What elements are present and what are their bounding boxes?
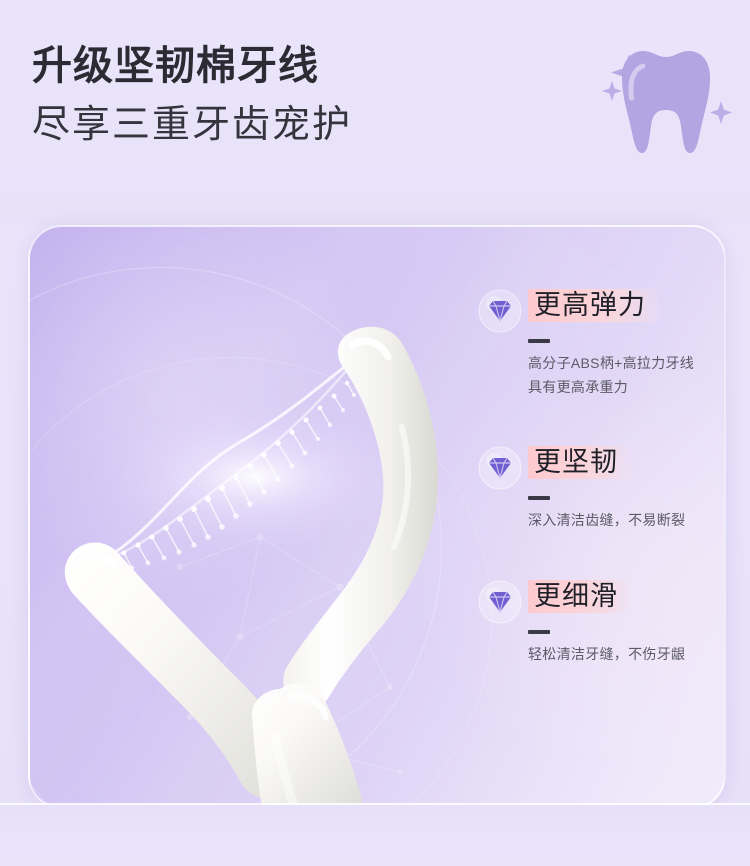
feature-item: 更坚韧 深入清洁齿缝，不易断裂 bbox=[478, 442, 726, 532]
feature-description-line1: 深入清洁齿缝，不易断裂 bbox=[528, 510, 726, 532]
diamond-icon bbox=[478, 289, 522, 333]
feature-description-line1: 轻松清洁牙缝，不伤牙龈 bbox=[528, 644, 726, 666]
feature-title: 更细滑 bbox=[528, 576, 630, 616]
floss-pick-product-image bbox=[30, 227, 470, 807]
feature-item: 更高弹力 高分子ABS柄+高拉力牙线 具有更高承重力 bbox=[478, 285, 726, 398]
feature-description-line1: 高分子ABS柄+高拉力牙线 bbox=[528, 353, 726, 375]
feature-description-line2: 具有更高承重力 bbox=[528, 377, 726, 399]
feature-item: 更细滑 轻松清洁牙缝，不伤牙龈 bbox=[478, 576, 726, 666]
footer-band bbox=[0, 805, 750, 866]
product-marketing-page: 升级坚韧棉牙线 尽享三重牙齿宠护 bbox=[0, 0, 750, 866]
feature-list: 更高弹力 高分子ABS柄+高拉力牙线 具有更高承重力 bbox=[478, 285, 726, 710]
page-subline: 尽享三重牙齿宠护 bbox=[32, 104, 352, 147]
feature-divider bbox=[528, 630, 550, 634]
feature-divider bbox=[528, 339, 550, 343]
diamond-icon bbox=[478, 446, 522, 490]
sparkle-icon bbox=[602, 81, 622, 101]
page-headline: 升级坚韧棉牙线 bbox=[32, 44, 319, 89]
tooth-icon bbox=[596, 44, 736, 164]
sparkle-icon bbox=[710, 101, 732, 124]
diamond-icon bbox=[478, 580, 522, 624]
feature-title: 更坚韧 bbox=[528, 442, 630, 482]
feature-divider bbox=[528, 496, 550, 500]
product-feature-card: 更高弹力 高分子ABS柄+高拉力牙线 具有更高承重力 bbox=[28, 225, 726, 809]
feature-title: 更高弹力 bbox=[528, 285, 658, 325]
header-banner: 升级坚韧棉牙线 尽享三重牙齿宠护 bbox=[0, 0, 750, 225]
